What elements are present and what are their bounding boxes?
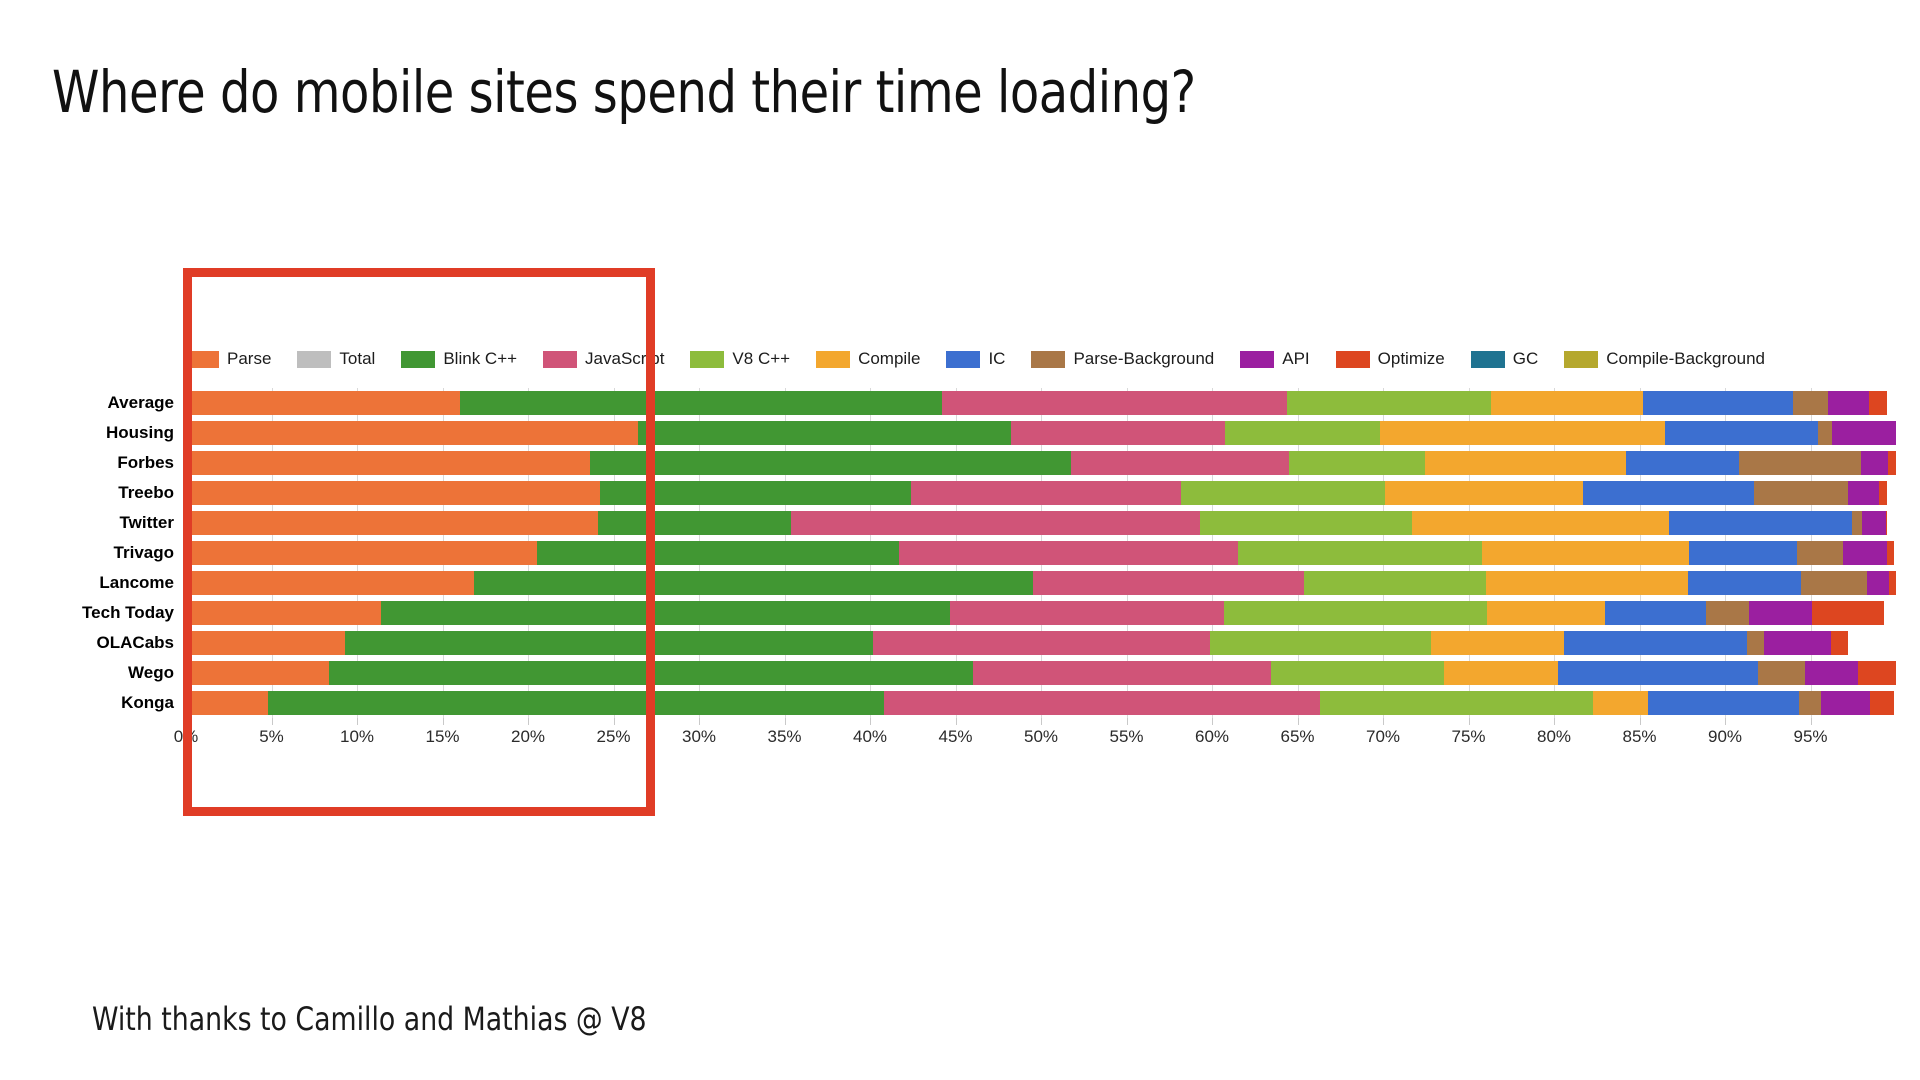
- bar-segment-blink-c-[interactable]: [268, 691, 884, 715]
- legend-item-label: IC: [988, 349, 1005, 369]
- bar-segment-parse-background[interactable]: [1797, 541, 1843, 565]
- bar-segment-parse[interactable]: [186, 511, 598, 535]
- bar-segment-parse-background[interactable]: [1758, 661, 1805, 685]
- stacked-bar[interactable]: [186, 631, 1896, 655]
- bar-segment-blink-c-[interactable]: [590, 451, 1071, 475]
- bar-segment-optimize[interactable]: [1869, 391, 1888, 415]
- stacked-bar[interactable]: [186, 571, 1896, 595]
- bar-segment-javascript[interactable]: [1033, 571, 1304, 595]
- x-axis-tick-mark: [614, 718, 615, 725]
- bar-segment-parse[interactable]: [186, 541, 537, 565]
- bar-segment-javascript[interactable]: [911, 481, 1181, 505]
- bar-segment-v8-c-[interactable]: [1287, 391, 1490, 415]
- legend-item-label: JavaScript: [585, 349, 664, 369]
- bar-segment-parse[interactable]: [186, 601, 381, 625]
- y-axis-category-label: Housing: [106, 423, 174, 443]
- bar-segment-javascript[interactable]: [899, 541, 1238, 565]
- x-axis-tick-mark: [1298, 718, 1299, 725]
- x-axis-tick-label: 10%: [340, 727, 374, 747]
- bar-row: Housing: [186, 418, 1896, 448]
- y-axis-category-label: Treebo: [118, 483, 174, 503]
- bar-row: Tech Today: [186, 598, 1896, 628]
- bar-segment-compile[interactable]: [1482, 541, 1689, 565]
- bar-segment-compile[interactable]: [1491, 391, 1643, 415]
- y-axis-category-label: Konga: [121, 693, 174, 713]
- legend-item[interactable]: JavaScript: [543, 349, 664, 369]
- bar-segment-v8-c-[interactable]: [1210, 631, 1431, 655]
- legend-item-label: GC: [1513, 349, 1539, 369]
- bar-segment-parse[interactable]: [186, 451, 590, 475]
- bar-rows: AverageHousingForbesTreeboTwitterTrivago…: [186, 388, 1896, 718]
- bar-segment-v8-c-[interactable]: [1289, 451, 1425, 475]
- bar-segment-javascript[interactable]: [873, 631, 1210, 655]
- bar-segment-v8-c-[interactable]: [1238, 541, 1483, 565]
- bar-segment-optimize[interactable]: [1887, 541, 1894, 565]
- page-title: Where do mobile sites spend their time l…: [52, 58, 1196, 126]
- x-axis-tick-label: 95%: [1793, 727, 1827, 747]
- bar-segment-api[interactable]: [1861, 451, 1887, 475]
- bar-segment-blink-c-[interactable]: [329, 661, 973, 685]
- legend-item[interactable]: V8 C++: [690, 349, 790, 369]
- bar-row: Wego: [186, 658, 1896, 688]
- x-axis-tick-label: 35%: [767, 727, 801, 747]
- stacked-bar[interactable]: [186, 601, 1896, 625]
- stacked-bar[interactable]: [186, 481, 1896, 505]
- bar-segment-api[interactable]: [1805, 661, 1858, 685]
- stacked-bar[interactable]: [186, 541, 1896, 565]
- bar-segment-optimize[interactable]: [1879, 481, 1888, 505]
- legend-item[interactable]: Parse: [185, 349, 271, 369]
- bar-segment-blink-c-[interactable]: [460, 391, 942, 415]
- bar-segment-api[interactable]: [1764, 631, 1831, 655]
- bar-segment-javascript[interactable]: [1011, 421, 1225, 445]
- bar-segment-parse[interactable]: [186, 691, 268, 715]
- x-axis-tick-mark: [1554, 718, 1555, 725]
- bar-segment-compile[interactable]: [1380, 421, 1665, 445]
- stacked-bar[interactable]: [186, 691, 1896, 715]
- legend-swatch-icon: [1240, 351, 1274, 368]
- y-axis-category-label: Wego: [128, 663, 174, 683]
- bar-segment-v8-c-[interactable]: [1304, 571, 1486, 595]
- bar-row: OLACabs: [186, 628, 1896, 658]
- stacked-bar[interactable]: [186, 391, 1896, 415]
- x-axis-tick-label: 5%: [259, 727, 284, 747]
- bar-segment-blink-c-[interactable]: [638, 421, 1012, 445]
- bar-segment-ic[interactable]: [1688, 571, 1800, 595]
- bar-row: Forbes: [186, 448, 1896, 478]
- legend-swatch-icon: [816, 351, 850, 368]
- bar-segment-javascript[interactable]: [884, 691, 1320, 715]
- legend-swatch-icon: [690, 351, 724, 368]
- x-axis-tick-mark: [1127, 718, 1128, 725]
- bar-segment-v8-c-[interactable]: [1320, 691, 1594, 715]
- x-axis-tick-label: 85%: [1622, 727, 1656, 747]
- bar-segment-api[interactable]: [1749, 601, 1812, 625]
- legend-swatch-icon: [297, 351, 331, 368]
- bar-segment-blink-c-[interactable]: [598, 511, 791, 535]
- x-axis-tick-mark: [357, 718, 358, 725]
- bar-row: Lancome: [186, 568, 1896, 598]
- x-axis-tick-label: 15%: [425, 727, 459, 747]
- stacked-bar[interactable]: [186, 511, 1896, 535]
- bar-segment-ic[interactable]: [1648, 691, 1798, 715]
- bar-segment-api[interactable]: [1867, 571, 1889, 595]
- bar-segment-compile[interactable]: [1593, 691, 1648, 715]
- bar-segment-blink-c-[interactable]: [381, 601, 950, 625]
- y-axis-category-label: Forbes: [117, 453, 174, 473]
- bar-segment-ic[interactable]: [1605, 601, 1706, 625]
- bar-segment-ic[interactable]: [1626, 451, 1738, 475]
- x-axis-tick-label: 65%: [1280, 727, 1314, 747]
- bar-segment-parse-background[interactable]: [1799, 691, 1821, 715]
- x-axis-tick-label: 25%: [596, 727, 630, 747]
- legend-item-label: Parse-Background: [1073, 349, 1214, 369]
- legend-swatch-icon: [1336, 351, 1370, 368]
- x-axis-tick-mark: [956, 718, 957, 725]
- bar-segment-v8-c-[interactable]: [1224, 601, 1487, 625]
- bar-segment-ic[interactable]: [1643, 391, 1793, 415]
- bar-segment-parse[interactable]: [186, 421, 638, 445]
- legend-swatch-icon: [946, 351, 980, 368]
- bar-segment-optimize[interactable]: [1858, 661, 1896, 685]
- legend-item[interactable]: GC: [1471, 349, 1539, 369]
- bar-segment-api[interactable]: [1821, 691, 1871, 715]
- bar-segment-parse-background[interactable]: [1818, 421, 1832, 445]
- bar-segment-blink-c-[interactable]: [600, 481, 911, 505]
- x-axis-tick-mark: [1212, 718, 1213, 725]
- bar-segment-api[interactable]: [1862, 511, 1886, 535]
- bar-segment-compile[interactable]: [1487, 601, 1605, 625]
- bar-segment-compile[interactable]: [1385, 481, 1583, 505]
- x-axis-tick-mark: [443, 718, 444, 725]
- y-axis-category-label: OLACabs: [97, 633, 174, 653]
- bar-segment-javascript[interactable]: [791, 511, 1200, 535]
- x-axis-tick-mark: [186, 718, 187, 725]
- bar-segment-optimize[interactable]: [1870, 691, 1894, 715]
- bar-segment-javascript[interactable]: [1071, 451, 1289, 475]
- x-axis: 0%5%10%15%20%25%30%35%40%45%50%55%60%65%…: [186, 718, 1896, 752]
- bar-segment-v8-c-[interactable]: [1271, 661, 1444, 685]
- legend-item[interactable]: Compile: [816, 349, 920, 369]
- bar-segment-compile[interactable]: [1425, 451, 1627, 475]
- bar-segment-api[interactable]: [1828, 391, 1869, 415]
- y-axis-category-label: Average: [108, 393, 174, 413]
- bar-segment-v8-c-[interactable]: [1200, 511, 1412, 535]
- legend-item-label: Total: [339, 349, 375, 369]
- legend-item-label: Optimize: [1378, 349, 1445, 369]
- bar-row: Twitter: [186, 508, 1896, 538]
- bar-segment-ic[interactable]: [1564, 631, 1747, 655]
- bar-segment-ic[interactable]: [1689, 541, 1797, 565]
- bar-segment-ic[interactable]: [1665, 421, 1818, 445]
- plot-area: AverageHousingForbesTreeboTwitterTrivago…: [186, 388, 1896, 718]
- x-axis-tick-label: 20%: [511, 727, 545, 747]
- bar-segment-parse-background[interactable]: [1852, 511, 1862, 535]
- stacked-bar-chart: ParseTotalBlink C++JavaScriptV8 C++Compi…: [0, 340, 1920, 790]
- bar-segment-v8-c-[interactable]: [1181, 481, 1384, 505]
- x-axis-tick-mark: [528, 718, 529, 725]
- legend-item[interactable]: Compile-Background: [1564, 349, 1765, 369]
- bar-segment-api[interactable]: [1843, 541, 1887, 565]
- bar-row: Average: [186, 388, 1896, 418]
- legend-swatch-icon: [185, 351, 219, 368]
- legend-swatch-icon: [1564, 351, 1598, 368]
- bar-segment-parse[interactable]: [186, 661, 329, 685]
- x-axis-tick-label: 75%: [1451, 727, 1485, 747]
- x-axis-tick-mark: [1640, 718, 1641, 725]
- x-axis-tick-mark: [1469, 718, 1470, 725]
- bar-segment-optimize[interactable]: [1812, 601, 1884, 625]
- bar-segment-compile[interactable]: [1412, 511, 1669, 535]
- bar-segment-parse-background[interactable]: [1801, 571, 1867, 595]
- bar-segment-parse[interactable]: [186, 391, 460, 415]
- stacked-bar[interactable]: [186, 421, 1896, 445]
- legend-item-label: API: [1282, 349, 1309, 369]
- legend-swatch-icon: [401, 351, 435, 368]
- x-axis-tick-mark: [699, 718, 700, 725]
- bar-segment-blink-c-[interactable]: [537, 541, 900, 565]
- bar-segment-parse[interactable]: [186, 571, 474, 595]
- bar-segment-parse-background[interactable]: [1739, 451, 1861, 475]
- x-axis-tick-mark: [1725, 718, 1726, 725]
- y-axis-category-label: Tech Today: [82, 603, 174, 623]
- x-axis-tick-mark: [870, 718, 871, 725]
- bar-segment-javascript[interactable]: [942, 391, 1287, 415]
- legend-swatch-icon: [543, 351, 577, 368]
- bar-segment-compile[interactable]: [1444, 661, 1559, 685]
- bar-segment-parse[interactable]: [186, 481, 600, 505]
- legend-item-label: V8 C++: [732, 349, 790, 369]
- bar-segment-parse-background[interactable]: [1706, 601, 1749, 625]
- x-axis-tick-label: 80%: [1537, 727, 1571, 747]
- bar-segment-v8-c-[interactable]: [1225, 421, 1380, 445]
- x-axis-tick-label: 60%: [1195, 727, 1229, 747]
- x-axis-tick-label: 45%: [938, 727, 972, 747]
- x-axis-tick-label: 40%: [853, 727, 887, 747]
- bar-segment-optimize[interactable]: [1888, 451, 1896, 475]
- x-axis-tick-mark: [1041, 718, 1042, 725]
- x-axis-tick-label: 70%: [1366, 727, 1400, 747]
- legend-swatch-icon: [1471, 351, 1505, 368]
- x-axis-tick-label: 90%: [1708, 727, 1742, 747]
- legend-item[interactable]: Total: [297, 349, 375, 369]
- legend-item-label: Compile-Background: [1606, 349, 1765, 369]
- bar-segment-parse-background[interactable]: [1793, 391, 1827, 415]
- bar-segment-parse-background[interactable]: [1747, 631, 1764, 655]
- stacked-bar[interactable]: [186, 661, 1896, 685]
- bar-segment-optimize[interactable]: [1889, 571, 1896, 595]
- legend-item[interactable]: Optimize: [1336, 349, 1445, 369]
- x-axis-tick-label: 55%: [1109, 727, 1143, 747]
- stacked-bar[interactable]: [186, 451, 1896, 475]
- legend-item[interactable]: IC: [946, 349, 1005, 369]
- x-axis-tick-mark: [1383, 718, 1384, 725]
- slide-root: Where do mobile sites spend their time l…: [0, 0, 1920, 1080]
- legend-item[interactable]: Blink C++: [401, 349, 517, 369]
- legend-swatch-icon: [1031, 351, 1065, 368]
- legend-item-label: Blink C++: [443, 349, 517, 369]
- bar-segment-parse-background[interactable]: [1754, 481, 1848, 505]
- bar-segment-javascript[interactable]: [950, 601, 1224, 625]
- y-axis-category-label: Twitter: [120, 513, 174, 533]
- y-axis-category-label: Lancome: [99, 573, 174, 593]
- chart-legend: ParseTotalBlink C++JavaScriptV8 C++Compi…: [185, 346, 1791, 372]
- legend-item-label: Compile: [858, 349, 920, 369]
- legend-item[interactable]: Parse-Background: [1031, 349, 1214, 369]
- bar-segment-ic[interactable]: [1669, 511, 1852, 535]
- bar-segment-api[interactable]: [1848, 481, 1879, 505]
- legend-item-label: Parse: [227, 349, 271, 369]
- bar-segment-blink-c-[interactable]: [474, 571, 1034, 595]
- x-axis-tick-label: 0%: [174, 727, 199, 747]
- bar-segment-ic[interactable]: [1558, 661, 1758, 685]
- bar-segment-optimize[interactable]: [1886, 511, 1888, 535]
- bar-row: Trivago: [186, 538, 1896, 568]
- bar-segment-ic[interactable]: [1583, 481, 1754, 505]
- bar-row: Konga: [186, 688, 1896, 718]
- bar-segment-javascript[interactable]: [973, 661, 1271, 685]
- x-axis-tick-mark: [785, 718, 786, 725]
- bar-segment-parse[interactable]: [186, 631, 345, 655]
- slide-footer-credit: With thanks to Camillo and Mathias @ V8: [92, 1000, 647, 1038]
- x-axis-tick-mark: [272, 718, 273, 725]
- bar-segment-compile[interactable]: [1486, 571, 1688, 595]
- bar-segment-api[interactable]: [1832, 421, 1897, 445]
- bar-row: Treebo: [186, 478, 1896, 508]
- bar-segment-blink-c-[interactable]: [345, 631, 873, 655]
- x-axis-tick-label: 50%: [1024, 727, 1058, 747]
- y-axis-category-label: Trivago: [114, 543, 174, 563]
- bar-segment-optimize[interactable]: [1831, 631, 1848, 655]
- x-axis-tick-mark: [1811, 718, 1812, 725]
- x-axis-tick-label: 30%: [682, 727, 716, 747]
- bar-segment-compile[interactable]: [1431, 631, 1564, 655]
- legend-item[interactable]: API: [1240, 349, 1309, 369]
